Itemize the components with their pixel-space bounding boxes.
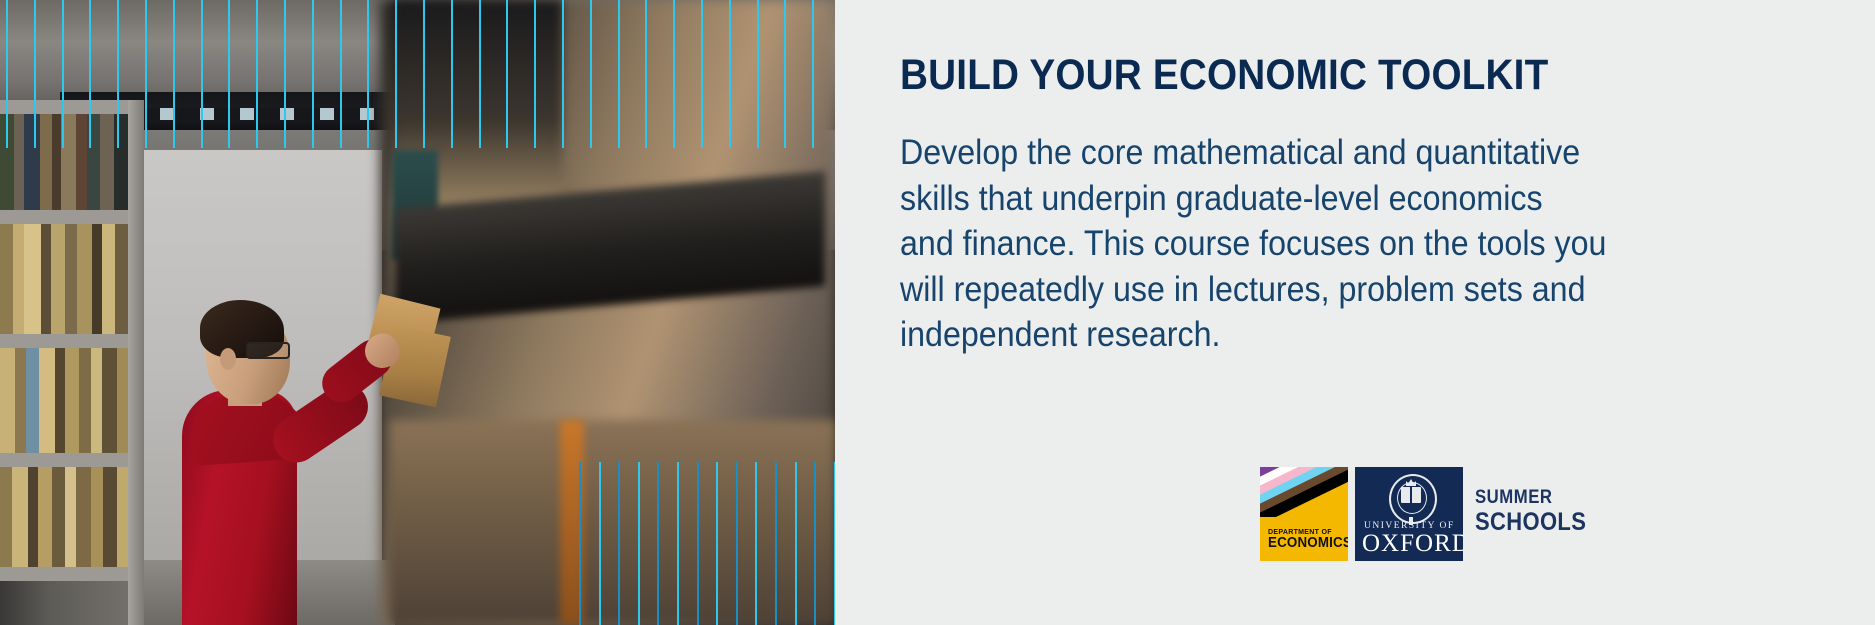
department-of-economics-logo: DEPARTMENT OF ECONOMICS — [1260, 467, 1348, 561]
course-promo-banner: BUILD YOUR ECONOMIC TOOLKIT Develop the … — [0, 0, 1875, 625]
library-photo — [0, 0, 835, 625]
photo-orange-spine — [560, 420, 584, 625]
photo-left-shelf-unit — [0, 100, 140, 625]
photo-student — [150, 300, 410, 625]
description-line: independent research. — [900, 312, 1627, 358]
university-of-oxford-logo: UNIVERSITY OF OXFORD — [1355, 467, 1463, 561]
progress-pride-flag-icon — [1260, 467, 1348, 517]
photo-shelf-post — [128, 100, 144, 625]
economics-logo-line2: ECONOMICS — [1268, 536, 1338, 551]
description-line: and finance. This course focuses on the … — [900, 221, 1627, 267]
course-description: Develop the core mathematical and quanti… — [900, 130, 1627, 358]
page-title: BUILD YOUR ECONOMIC TOOLKIT — [900, 52, 1710, 98]
description-line: will repeatedly use in lectures, problem… — [900, 267, 1627, 313]
summer-schools-line1: SUMMER — [1475, 487, 1586, 508]
oxford-open-book-icon — [1401, 487, 1421, 503]
summer-schools-line2: SCHOOLS — [1475, 508, 1586, 536]
description-line: Develop the core mathematical and quanti… — [900, 130, 1627, 176]
logo-lockup: DEPARTMENT OF ECONOMICS UNIVERSITY OF OX… — [1260, 465, 1820, 565]
photo-lower-stack — [390, 420, 835, 625]
oxford-logo-line2: OXFORD — [1362, 531, 1463, 557]
description-line: skills that underpin graduate-level econ… — [900, 176, 1627, 222]
economics-logo-text: DEPARTMENT OF ECONOMICS — [1268, 528, 1344, 551]
content-panel: BUILD YOUR ECONOMIC TOOLKIT Develop the … — [835, 0, 1875, 625]
summer-schools-wordmark: SUMMER SCHOOLS — [1475, 487, 1601, 536]
